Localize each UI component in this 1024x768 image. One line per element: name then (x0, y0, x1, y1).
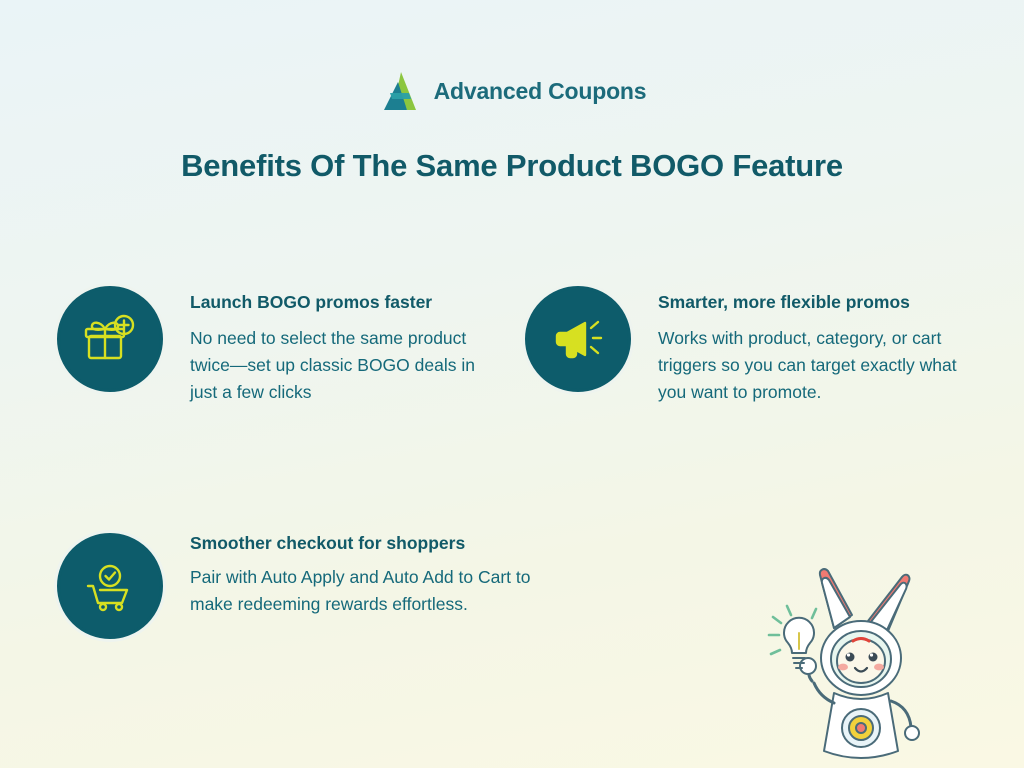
brand-name: Advanced Coupons (434, 78, 647, 105)
gift-plus-icon (57, 286, 163, 392)
page-title: Benefits Of The Same Product BOGO Featur… (0, 148, 1024, 184)
benefit-title: Smarter, more flexible promos (658, 292, 988, 313)
benefit-item-smoother-checkout: Smoother checkout for shoppers Pair with… (57, 533, 537, 639)
benefit-text: Launch BOGO promos faster No need to sel… (190, 286, 500, 406)
benefit-description: Works with product, category, or cart tr… (658, 325, 988, 406)
benefit-title: Smoother checkout for shoppers (190, 533, 537, 554)
benefit-text: Smarter, more flexible promos Works with… (658, 286, 988, 406)
shopping-cart-check-icon (57, 533, 163, 639)
benefit-item-flexible-promos: Smarter, more flexible promos Works with… (525, 286, 995, 406)
benefit-item-launch-faster: Launch BOGO promos faster No need to sel… (57, 286, 502, 406)
advanced-coupons-a-mark-icon (378, 68, 424, 114)
robot-with-lightbulb-illustration-icon (716, 553, 946, 768)
brand-logo: Advanced Coupons (0, 68, 1024, 114)
infographic-page: Advanced Coupons Benefits Of The Same Pr… (0, 0, 1024, 768)
megaphone-icon (525, 286, 631, 392)
benefit-description: Pair with Auto Apply and Auto Add to Car… (190, 564, 537, 618)
benefit-description: No need to select the same product twice… (190, 325, 500, 406)
benefit-text: Smoother checkout for shoppers Pair with… (190, 533, 537, 618)
benefit-title: Launch BOGO promos faster (190, 292, 500, 313)
